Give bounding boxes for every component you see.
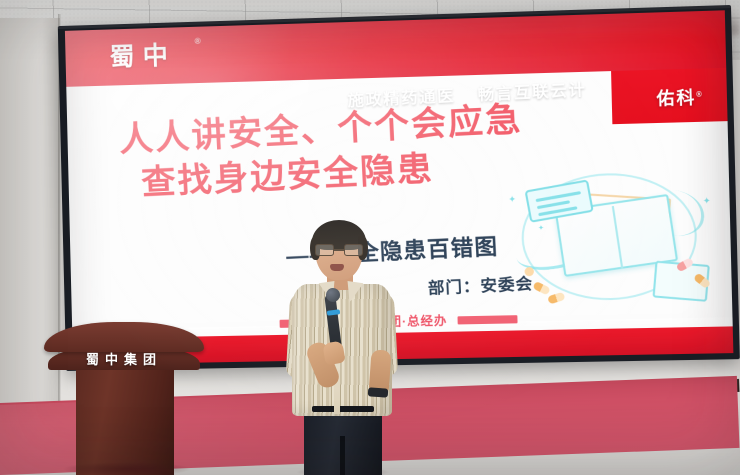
speaker <box>282 222 404 475</box>
illustration-sparkle-icon: ✦ <box>703 195 711 206</box>
screenshot-root: 蜀中 ® 施政精药通医畅言互联云计 佑科® <box>0 0 740 475</box>
podium-body <box>76 368 174 475</box>
glasses-right-lens <box>344 244 363 256</box>
podium: 蜀中集团 <box>44 322 204 475</box>
department-value: 安委会 <box>480 276 534 296</box>
brand-trademark-icon: ® <box>195 37 201 46</box>
podium-top <box>44 322 204 352</box>
podium-shadow <box>62 462 192 475</box>
glasses-icon <box>315 244 363 256</box>
illustration-capsule-icon <box>547 292 565 305</box>
corner-trademark-icon: ® <box>696 91 704 98</box>
glasses-left-lens <box>315 244 334 256</box>
glasses-bridge <box>334 249 344 251</box>
speaker-leg-seam <box>340 436 345 475</box>
footer-decor-bar-right <box>457 315 517 324</box>
podium-logo-text: 蜀中集团 <box>44 349 204 368</box>
corner-logo-text: 佑科 <box>656 88 696 109</box>
speaker-mouth <box>330 264 344 271</box>
wristwatch <box>368 387 389 397</box>
department-label: 部门： <box>428 278 481 298</box>
brand-logo: 蜀中 <box>109 35 176 73</box>
corner-partner-logo: 佑科® <box>656 83 704 110</box>
slide-department: 部门：安委会 <box>427 270 533 299</box>
illustration-sparkle-icon: ✦ <box>508 194 516 205</box>
speaker-belt <box>312 406 374 412</box>
